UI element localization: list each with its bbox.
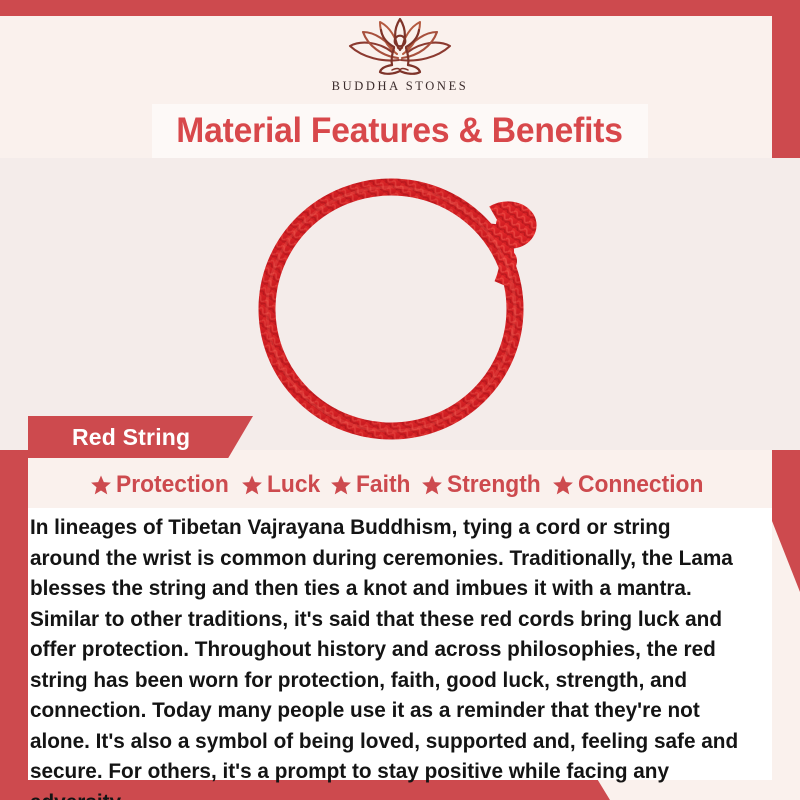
feature-item-strength: Strength (421, 471, 546, 499)
feature-item-luck: Luck (241, 471, 323, 499)
description-panel: In lineages of Tibetan Vajrayana Buddhis… (28, 508, 772, 780)
lotus-meditation-icon (337, 16, 463, 78)
product-photo-area (0, 158, 800, 450)
feature-item-faith: Faith (330, 471, 413, 499)
star-icon (90, 474, 112, 496)
star-icon (241, 474, 263, 496)
infographic-card: BUDDHA STONES Material Features & Benefi… (0, 0, 800, 800)
feature-label-faith: Faith (356, 471, 410, 499)
brand-header: BUDDHA STONES (0, 16, 800, 106)
feature-item-protection: Protection (90, 471, 235, 499)
star-icon (330, 474, 352, 496)
product-label-banner: Red String (28, 416, 253, 458)
product-label-text: Red String (72, 424, 190, 451)
feature-item-connection: Connection (552, 471, 710, 499)
feature-label-protection: Protection (116, 471, 229, 499)
features-row: Protection Luck Faith Strength Connectio… (0, 464, 800, 506)
star-icon (421, 474, 443, 496)
star-icon (552, 474, 574, 496)
brand-wordmark: BUDDHA STONES (332, 79, 469, 94)
red-string-bracelet-photo (205, 166, 595, 446)
feature-label-strength: Strength (447, 471, 541, 499)
decorative-top-bar (0, 0, 800, 16)
title-band: Material Features & Benefits (152, 104, 648, 158)
page-title: Material Features & Benefits (177, 111, 624, 151)
feature-label-connection: Connection (578, 471, 703, 499)
feature-label-luck: Luck (267, 471, 320, 499)
description-text: In lineages of Tibetan Vajrayana Buddhis… (28, 512, 750, 800)
